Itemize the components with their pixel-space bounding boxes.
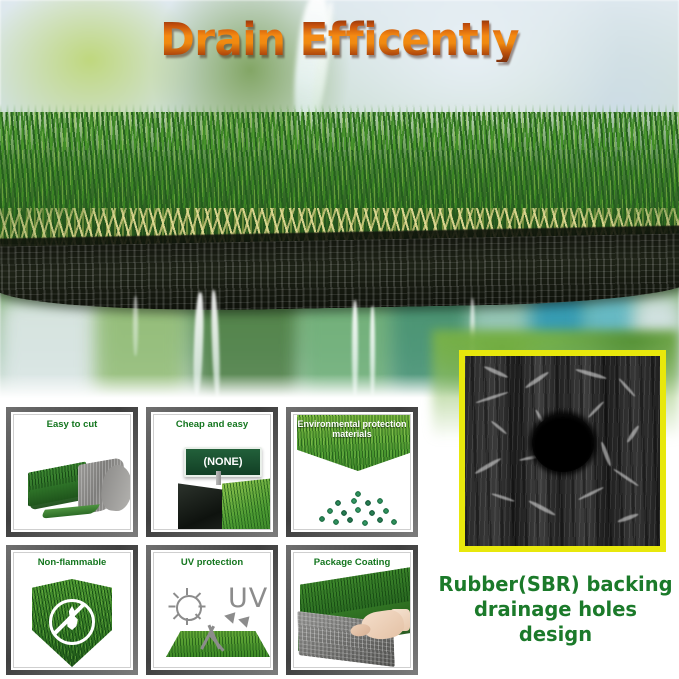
headline-title: Drain Efficently xyxy=(24,17,655,62)
sign-post xyxy=(216,471,221,485)
panel-inner: Environmental protection materials xyxy=(293,414,411,530)
panel-label: Non-flammable xyxy=(14,558,130,568)
uv-label: UV xyxy=(228,585,268,612)
panel-label: Package Coating xyxy=(294,558,410,568)
rubber-backing-caption: Rubber(SBR) backing drainage holes desig… xyxy=(438,572,673,647)
rubber-backing-photo xyxy=(465,356,660,546)
feature-panel-package-coating: Package Coating xyxy=(286,545,418,675)
panel-inner: Package Coating xyxy=(293,552,411,668)
ray-arrowhead xyxy=(238,612,254,628)
turf-cross-section xyxy=(0,112,679,302)
feature-panel-non-flammable: Non-flammable xyxy=(6,545,138,675)
grass-sheet xyxy=(222,478,271,530)
rolled-turf-icon xyxy=(14,415,130,529)
rubber-backing-photo-frame xyxy=(459,350,666,552)
panel-inner: (NONE) Cheap and easy xyxy=(153,414,271,530)
feature-panel-environmental-materials: Environmental protection materials xyxy=(286,407,418,537)
prohibition-circle xyxy=(49,599,95,645)
sun-ray xyxy=(186,618,188,625)
sun-ray xyxy=(199,605,206,607)
feature-panel-grid: Easy to cut (NONE) Cheap and easy xyxy=(6,407,418,675)
sun-ray xyxy=(169,605,176,607)
panel-inner: UV UV protection xyxy=(153,552,271,668)
water-drip xyxy=(133,296,138,356)
drainage-hole xyxy=(532,414,594,472)
hand-lifting-turf-icon xyxy=(294,553,410,667)
panel-inner: Non-flammable xyxy=(13,552,131,668)
uv-sun-icon: UV xyxy=(154,553,270,667)
none-sign-label: (NONE) xyxy=(184,447,262,477)
panel-inner: Easy to cut xyxy=(13,414,131,530)
panel-label: Environmental protection materials xyxy=(294,420,410,440)
sun-ray xyxy=(173,592,179,598)
plastic-pellets xyxy=(310,489,406,527)
feature-panel-easy-to-cut: Easy to cut xyxy=(6,407,138,537)
none-sign-icon: (NONE) xyxy=(154,415,270,529)
sun-ray xyxy=(186,588,188,595)
panel-label: UV protection xyxy=(154,558,270,568)
panel-label: Cheap and easy xyxy=(154,420,270,430)
fire-shield-icon xyxy=(14,553,130,667)
feature-panel-cheap-and-easy: (NONE) Cheap and easy xyxy=(146,407,278,537)
feature-panel-uv-protection: UV UV protection xyxy=(146,545,278,675)
product-marketing-image: Drain Efficently Easy to cut xyxy=(0,0,679,679)
panel-label: Easy to cut xyxy=(14,420,130,430)
